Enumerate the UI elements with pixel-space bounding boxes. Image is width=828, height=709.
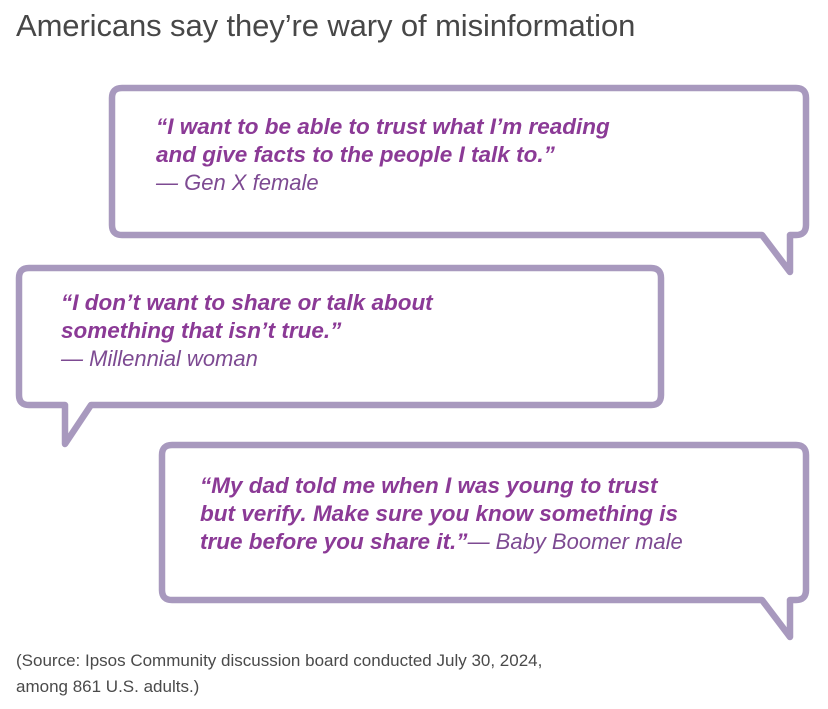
- quote-line: but verify. Make sure you know something…: [200, 500, 683, 528]
- source-line-1: (Source: Ipsos Community discussion boar…: [16, 648, 716, 674]
- quote-attribution: — Gen X female: [156, 169, 610, 197]
- quote-line: true before you share it.”: [200, 529, 468, 554]
- quote-block: “I don’t want to share or talk about som…: [61, 289, 433, 373]
- quote-block: “I want to be able to trust what I’m rea…: [156, 113, 610, 197]
- quote-attribution: — Millennial woman: [61, 345, 433, 373]
- speech-bubble-millennial-woman: “I don’t want to share or talk about som…: [9, 265, 671, 455]
- quote-line-with-attribution: true before you share it.”— Baby Boomer …: [200, 528, 683, 556]
- quote-line: something that isn’t true.”: [61, 317, 433, 345]
- quote-line: “I want to be able to trust what I’m rea…: [156, 113, 610, 141]
- quote-line: “I don’t want to share or talk about: [61, 289, 433, 317]
- speech-bubble-gen-x-female: “I want to be able to trust what I’m rea…: [102, 85, 816, 280]
- quote-line: and give facts to the people I talk to.”: [156, 141, 610, 169]
- source-note: (Source: Ipsos Community discussion boar…: [16, 648, 716, 700]
- quote-line: “My dad told me when I was young to trus…: [200, 472, 683, 500]
- source-line-2: among 861 U.S. adults.): [16, 674, 716, 700]
- page-title: Americans say they’re wary of misinforma…: [16, 6, 635, 46]
- quote-attribution: — Baby Boomer male: [468, 529, 683, 554]
- quote-block: “My dad told me when I was young to trus…: [200, 472, 683, 556]
- speech-bubble-baby-boomer-male: “My dad told me when I was young to trus…: [152, 442, 816, 642]
